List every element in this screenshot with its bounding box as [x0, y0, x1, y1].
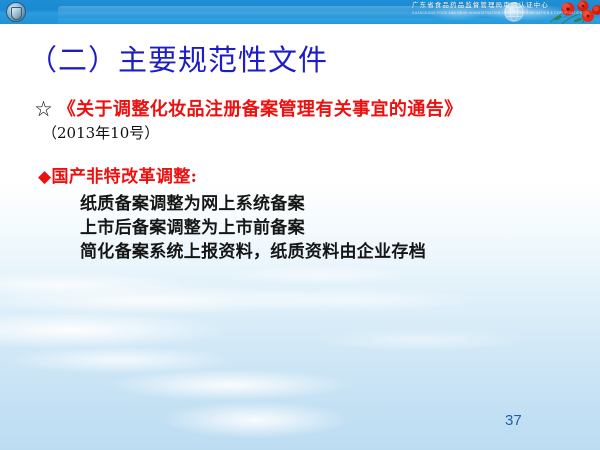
document-number: （2013年10号） — [42, 124, 159, 143]
list-item: 纸质备案调整为网上系统备案 — [80, 192, 426, 216]
list-item: 简化备案系统上报资料，纸质资料由企业存档 — [80, 240, 426, 264]
star-bullet-icon: ☆ — [35, 100, 52, 120]
list-item: 上市后备案调整为上市前备案 — [80, 216, 426, 240]
agency-emblem-icon — [6, 2, 26, 22]
section-heading: ◆国产非特改革调整: — [38, 167, 197, 188]
page-number: 37 — [505, 412, 522, 430]
document-reference-line: ☆ 《关于调整化妆品注册备案管理有关事宜的通告》 — [35, 99, 463, 121]
section-heading-label: 国产非特改革调整: — [51, 167, 197, 187]
header-banner: 广东省食品药品监督管理局审评认证中心 GUANGDONG FOOD AND DR… — [0, 0, 600, 24]
section-item-list: 纸质备案调整为网上系统备案 上市后备案调整为上市前备案 简化备案系统上报资料，纸… — [80, 192, 426, 264]
banner-text-block: 广东省食品药品监督管理局审评认证中心 GUANGDONG FOOD AND DR… — [406, 0, 538, 24]
agency-name-cn: 广东省食品药品监督管理局审评认证中心 — [412, 2, 549, 10]
document-title: 《关于调整化妆品注册备案管理有关事宜的通告》 — [58, 99, 463, 120]
diamond-bullet-icon: ◆ — [38, 167, 51, 187]
presentation-slide: 广东省食品药品监督管理局审评认证中心 GUANGDONG FOOD AND DR… — [0, 0, 600, 450]
agency-name-en: GUANGDONG FOOD AND DRUG ADMINISTRATION C… — [412, 11, 582, 16]
emblem-shield-icon — [11, 7, 22, 20]
slide-title: （二）主要规范性文件 — [28, 43, 328, 77]
